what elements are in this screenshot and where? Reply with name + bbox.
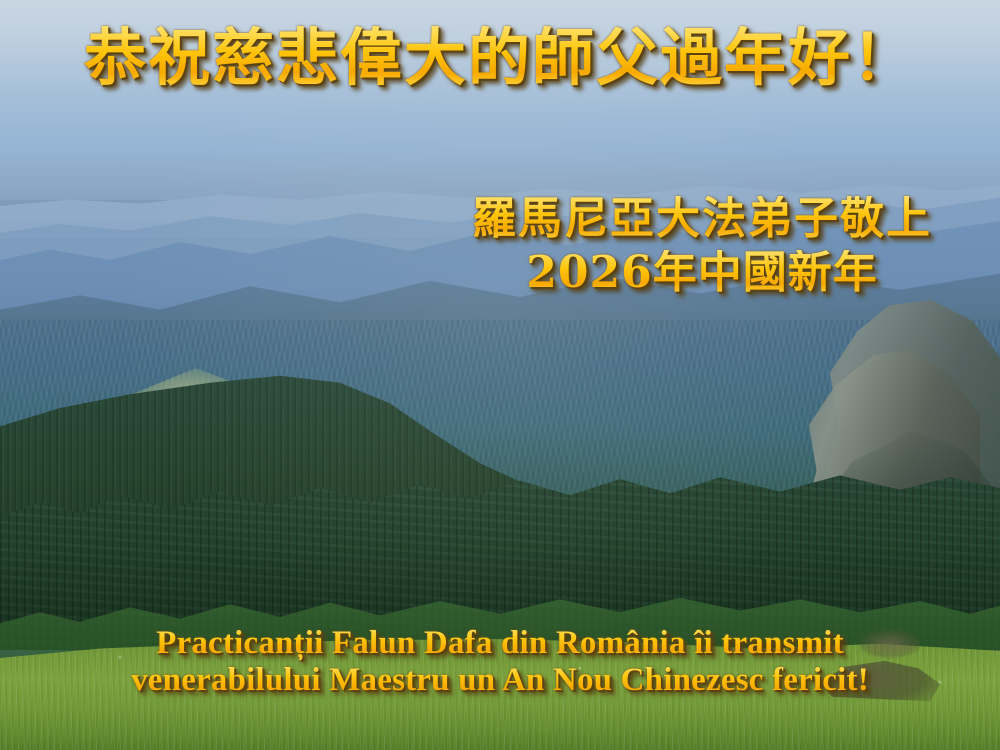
signature-sender-line: 羅馬尼亞大法弟子敬上 [442,196,962,242]
signature-block: 羅馬尼亞大法弟子敬上 2026年中國新年 [442,196,962,296]
signature-year-line: 2026年中國新年 [442,250,962,296]
romanian-caption-line-1: Practicanții Falun Dafa din România îi t… [0,626,1000,660]
romanian-caption-block: Practicanții Falun Dafa din România îi t… [0,626,1000,698]
headline-greeting: 恭祝慈悲偉大的師父過年好！ [0,26,1000,90]
greeting-poster: 恭祝慈悲偉大的師父過年好！ 羅馬尼亞大法弟子敬上 2026年中國新年 Pract… [0,0,1000,750]
romanian-caption-line-2: venerabilului Maestru un An Nou Chinezes… [0,663,1000,697]
